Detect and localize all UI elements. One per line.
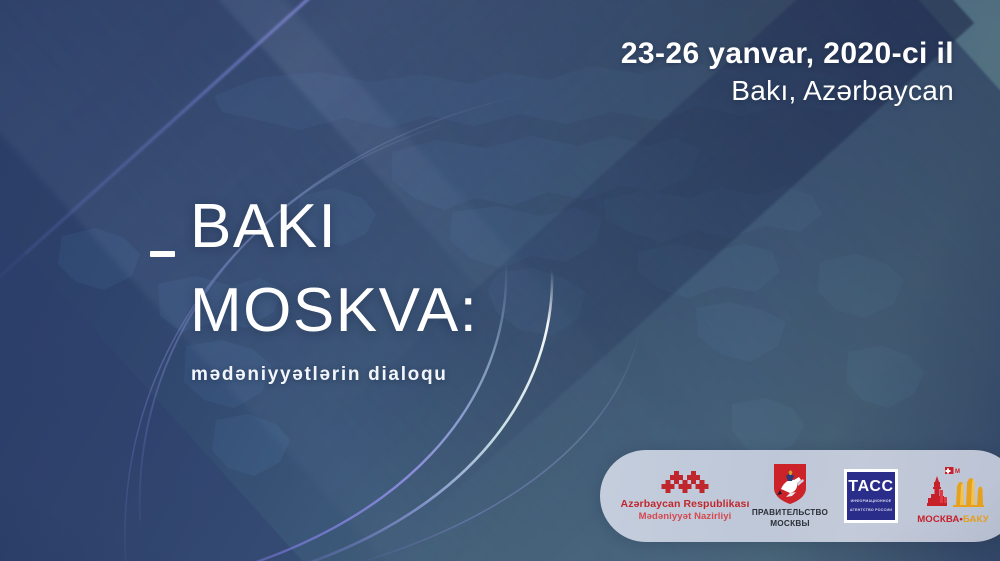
logo-moscow-baku: М [910, 467, 996, 525]
tass-subtitle-line-2: АГЕНТСТВО РОССИИ [850, 508, 892, 513]
event-title-block: BAKI MOSKVA: mədəniyyətlərin dialoqu [150, 196, 478, 386]
logo-azerbaijan-ministry-of-culture: Azərbaycan Respublikası Mədəniyyət Nazir… [622, 470, 748, 523]
title-dash-mark [150, 251, 175, 257]
moscow-baku-wordmark: МОСКВА•БАКУ [917, 514, 989, 525]
az-ministry-line-1: Azərbaycan Respublikası [621, 498, 750, 511]
kremlin-flametowers-icon: М [922, 467, 984, 513]
event-date-block: 23-26 yanvar, 2020-ci il Bakı, Azərbayca… [621, 36, 954, 110]
tass-wordmark: ТАСС [848, 479, 893, 495]
sponsor-logo-panel: Azərbaycan Respublikası Mədəniyyət Nazir… [600, 450, 1000, 542]
az-ministry-line-2: Mədəniyyət Nazirliyi [639, 511, 732, 523]
title-row: BAKI MOSKVA: [150, 196, 478, 342]
moscow-gov-line-1: ПРАВИТЕЛЬСТВО [752, 508, 828, 519]
tass-subtitle-line-1: ИНФОРМАЦИОННОЕ [851, 499, 892, 504]
event-subtitle: mədəniyyətlərin dialoqu [150, 364, 478, 386]
title-line-2: MOSKVA: [150, 280, 478, 342]
logo-moscow-government: ПРАВИТЕЛЬСТВО МОСКВЫ [748, 463, 832, 529]
moscow-baku-word-left: МОСКВА [917, 514, 959, 525]
title-line-1: BAKI [150, 196, 478, 258]
event-location: Bakı, Azərbaycan [621, 73, 954, 110]
tass-logo-inner: ТАСС ИНФОРМАЦИОННОЕ АГЕНТСТВО РОССИИ [847, 472, 895, 520]
logo-tass: ТАСС ИНФОРМАЦИОННОЕ АГЕНТСТВО РОССИИ [832, 469, 910, 523]
moscow-gov-line-2: МОСКВЫ [770, 519, 810, 530]
tass-logo-box: ТАСС ИНФОРМАЦИОННОЕ АГЕНТСТВО РОССИИ [844, 469, 898, 523]
event-banner: 23-26 yanvar, 2020-ci il Bakı, Azərbayca… [0, 0, 1000, 561]
event-dates: 23-26 yanvar, 2020-ci il [621, 36, 954, 73]
svg-text:М: М [955, 469, 960, 475]
az-knot-emblem-icon [659, 470, 711, 496]
moscow-baku-word-right: БАКУ [963, 514, 989, 525]
moscow-coat-of-arms-icon [773, 463, 807, 505]
